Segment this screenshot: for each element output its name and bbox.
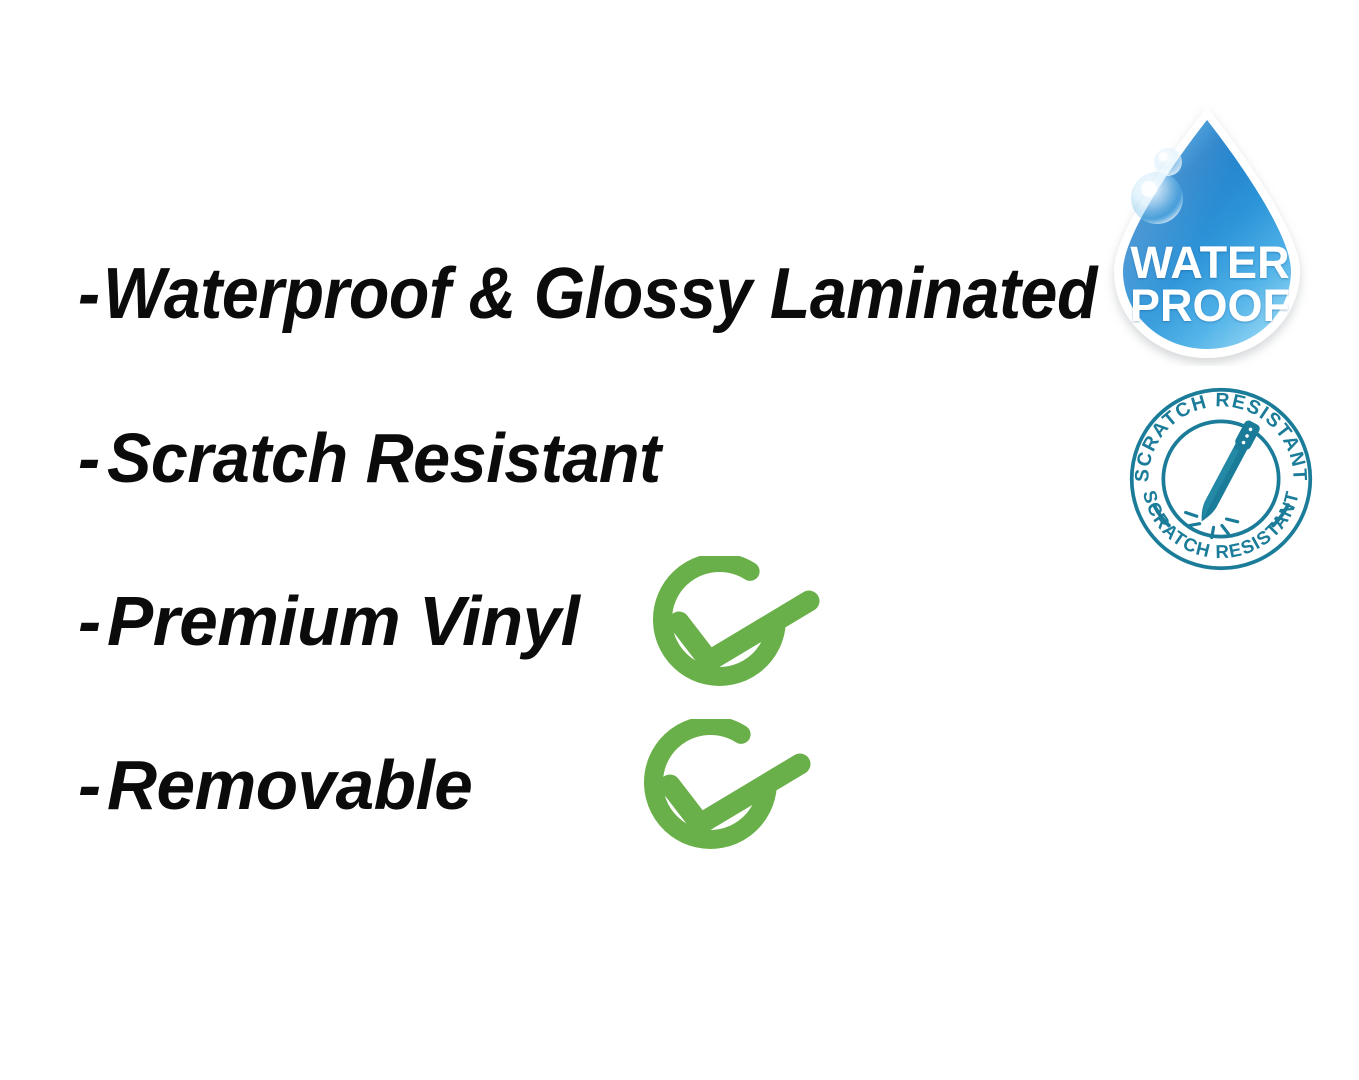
water-bubble-small-icon [1154,148,1182,176]
water-bubble-large-icon [1131,172,1183,224]
feature-bullet-dash: - [78,586,101,656]
feature-label: Waterproof & Glossy Laminated [103,258,1097,330]
check-mark-removable [634,719,830,869]
feature-item-removable: - Removable [78,750,476,820]
feature-label: Scratch Resistant [107,423,661,493]
waterproof-badge: WATER PROOF [1104,104,1316,366]
feature-bullet-dash: - [78,258,100,330]
knife-stamp-icon: SCRATCH RESISTANT SCRATCH RESISTANT [1128,386,1314,572]
feature-item-scratch-resistant: - Scratch Resistant [78,423,690,493]
check-mark-premium-vinyl [643,556,839,706]
check-circle-icon [634,719,830,869]
product-feature-graphic: - Waterproof & Glossy Laminated - Scratc… [0,0,1359,1080]
water-drop-icon [1104,104,1316,366]
knife-icon [1194,419,1261,525]
feature-item-premium-vinyl: - Premium Vinyl [78,586,584,656]
feature-list: - Waterproof & Glossy Laminated - Scratc… [0,0,1100,1080]
scratch-badge-text-top: SCRATCH RESISTANT [1131,389,1311,482]
scratch-resistant-badge: SCRATCH RESISTANT SCRATCH RESISTANT [1128,386,1314,572]
feature-item-waterproof: - Waterproof & Glossy Laminated [78,258,1184,330]
feature-bullet-dash: - [78,423,100,493]
check-circle-icon [643,556,839,706]
feature-label: Removable [107,750,472,820]
impact-lines-icon [1186,512,1238,537]
feature-bullet-dash: - [78,750,101,820]
feature-label: Premium Vinyl [107,586,579,656]
